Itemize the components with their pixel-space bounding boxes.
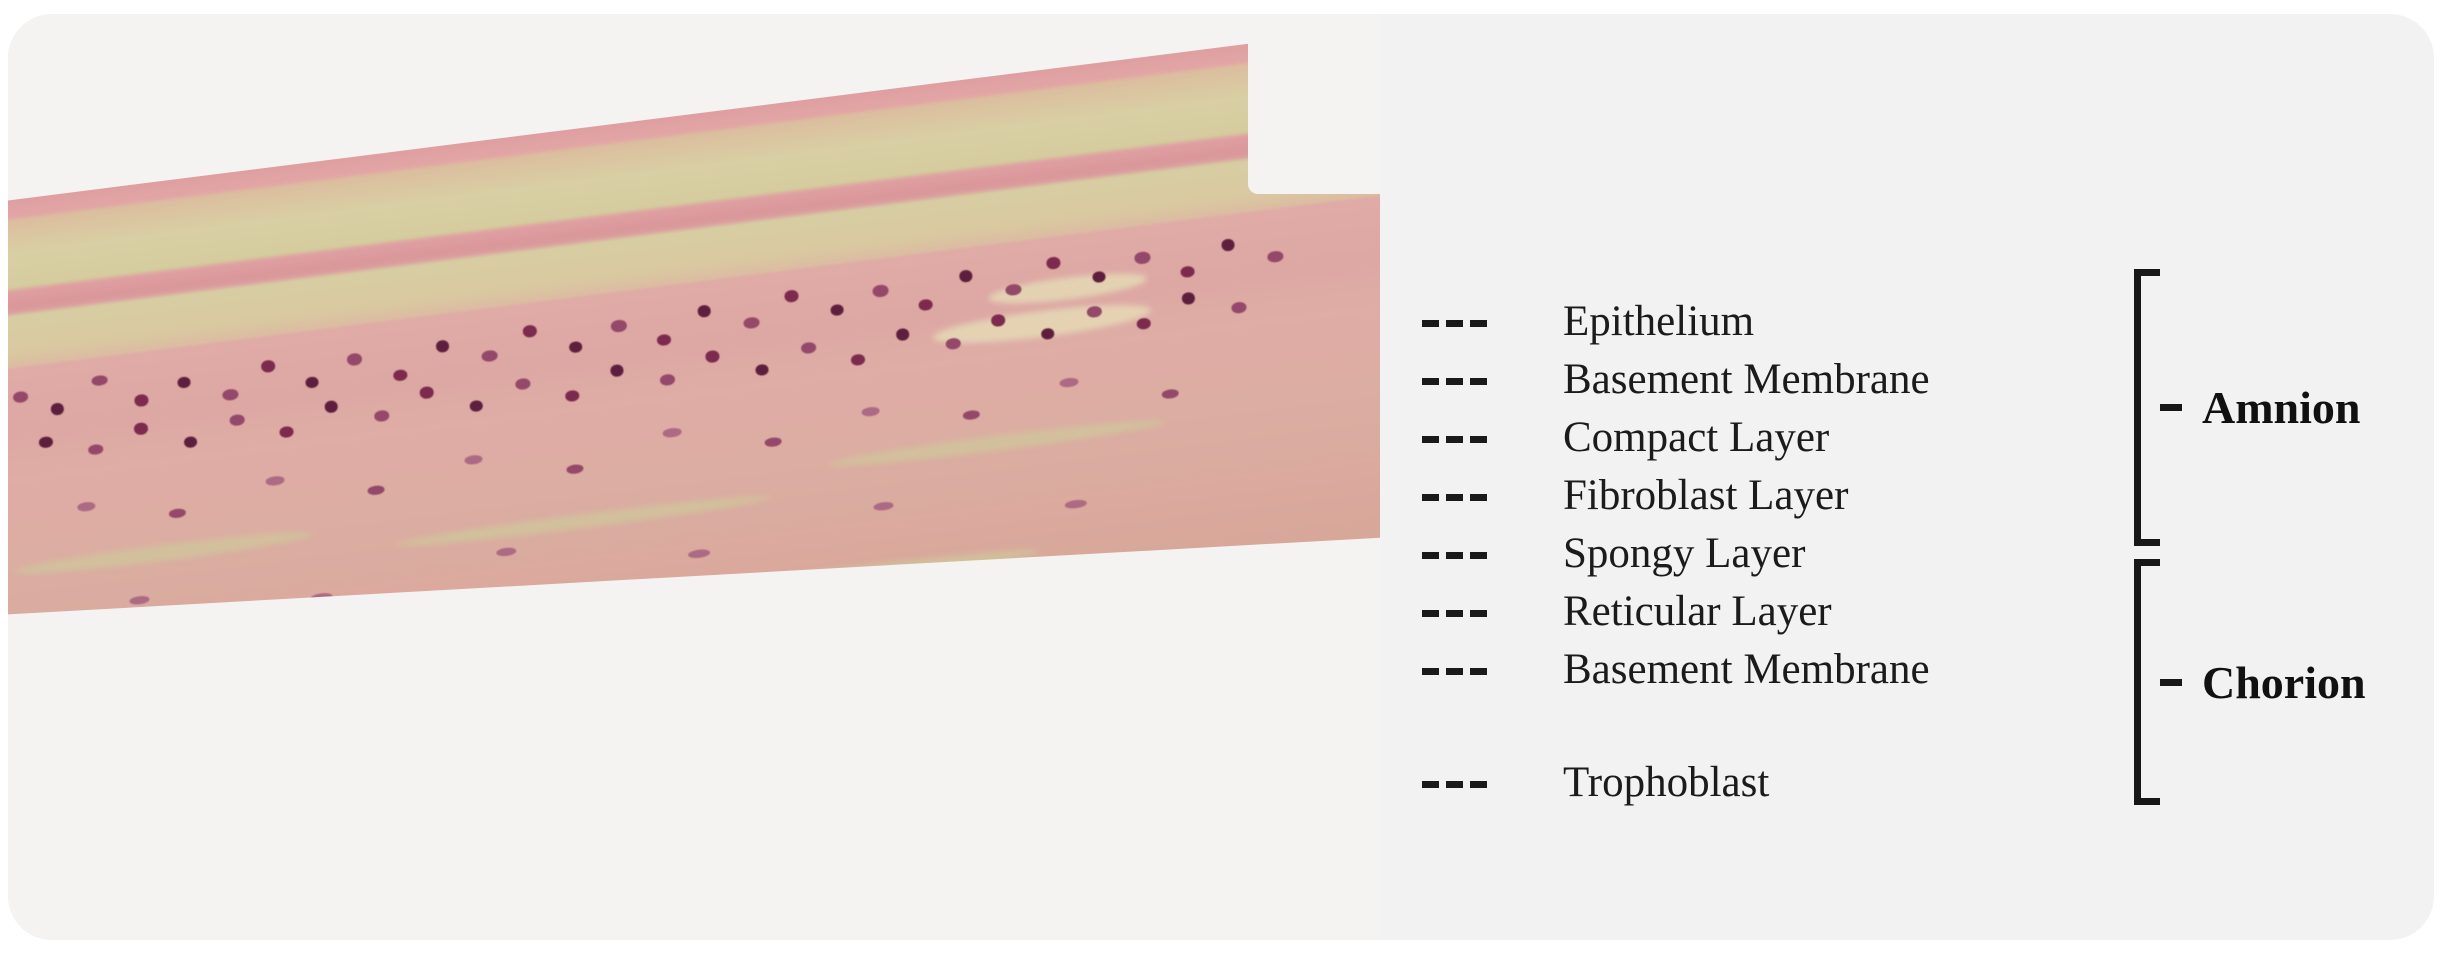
legend-row[interactable]: Basement Membrane (1422, 357, 1930, 403)
legend-label: Basement Membrane (1563, 647, 1930, 693)
dashed-line-marker-icon (1422, 299, 1492, 345)
dashed-line-marker-icon (1422, 473, 1492, 519)
legend-row[interactable]: Reticular Layer (1422, 589, 1832, 635)
legend-label: Trophoblast (1563, 760, 1769, 806)
tissue-notch (1248, 14, 1380, 194)
legend-row[interactable]: Fibroblast Layer (1422, 473, 1848, 519)
legend-label: Spongy Layer (1563, 531, 1805, 577)
dashed-line-marker-icon (1422, 357, 1492, 403)
bracket-tick-amnion (2160, 404, 2182, 411)
legend-row[interactable]: Basement Membrane (1422, 647, 1930, 693)
legend-row[interactable]: Compact Layer (1422, 415, 1829, 461)
legend-label: Fibroblast Layer (1563, 473, 1848, 519)
legend-label: Reticular Layer (1563, 589, 1832, 635)
legend-label: Compact Layer (1563, 415, 1829, 461)
tissue-notch (308, 814, 568, 940)
legend-row[interactable]: Epithelium (1422, 299, 1754, 345)
figure-card: EpitheliumBasement MembraneCompact Layer… (8, 14, 2434, 940)
bracket-label-amnion: Amnion (2202, 381, 2360, 434)
legend-row[interactable]: Spongy Layer (1422, 531, 1805, 577)
dashed-line-marker-icon (1422, 589, 1492, 635)
dashed-line-marker-icon (1422, 647, 1492, 693)
bracket-label-chorion: Chorion (2202, 656, 2366, 709)
bracket-tick-chorion (2160, 679, 2182, 686)
bracket-amnion (2134, 269, 2160, 546)
tissue-notch (1038, 834, 1380, 940)
tissue-stage (8, 14, 1380, 940)
histology-micrograph (8, 14, 1380, 940)
legend-row[interactable]: Trophoblast (1422, 760, 1769, 806)
dashed-line-marker-icon (1422, 531, 1492, 577)
bracket-chorion (2134, 559, 2160, 805)
tissue-notch (568, 870, 1088, 940)
legend-label: Epithelium (1563, 299, 1754, 345)
legend-label: Basement Membrane (1563, 357, 1930, 403)
dashed-line-marker-icon (1422, 415, 1492, 461)
dashed-line-marker-icon (1422, 760, 1492, 806)
layer-legend: EpitheliumBasement MembraneCompact Layer… (1412, 14, 2434, 940)
